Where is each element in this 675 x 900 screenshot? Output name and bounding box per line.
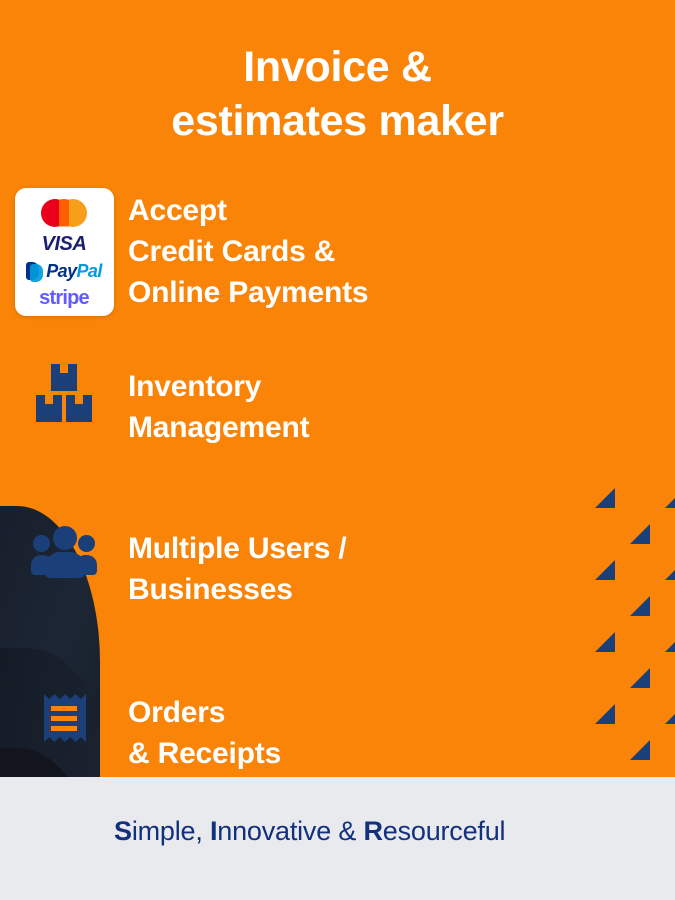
stripe-logo: stripe [39, 288, 89, 308]
feature-users-line-2: Businesses [128, 569, 347, 610]
feature-inventory-line-1: Inventory [128, 366, 309, 407]
page-title: Invoice & estimates maker [0, 40, 675, 148]
visa-logo: VISA [42, 234, 87, 254]
multiple-users-icon [33, 526, 95, 578]
box-top [51, 364, 77, 391]
page-title-line-1: Invoice & [0, 40, 675, 94]
tagline-part-3: esourceful [383, 816, 506, 846]
feature-payments-line-3: Online Payments [128, 272, 368, 313]
user-center-body [45, 552, 85, 578]
paypal-mark-icon [26, 261, 43, 281]
feature-users-text: Multiple Users / Businesses [128, 526, 347, 610]
box-bottom-left [36, 395, 62, 422]
mastercard-logo [41, 199, 87, 227]
user-right-head [78, 535, 95, 552]
box-bottom-right [66, 395, 92, 422]
inventory-boxes-icon [34, 364, 94, 422]
promo-screen: Invoice & estimates maker [0, 0, 675, 900]
inventory-boxes-icon-wrap [0, 364, 128, 422]
feature-orders-text: Orders & Receipts [128, 690, 281, 774]
feature-orders-line-1: Orders [128, 692, 281, 733]
feature-payments-text: Accept Credit Cards & Online Payments [128, 188, 368, 313]
user-left-head [33, 535, 50, 552]
tagline-part-2: nnovative & [217, 816, 363, 846]
feature-item-payments: VISA PayPal stripe Accept Credit Cards &… [0, 188, 675, 326]
payment-logos-card-wrap: VISA PayPal stripe [0, 188, 128, 316]
feature-list: VISA PayPal stripe Accept Credit Cards &… [0, 188, 675, 820]
multiple-users-icon-wrap [0, 526, 128, 578]
feature-payments-line-2: Credit Cards & [128, 231, 368, 272]
tagline-part-1: imple, [132, 816, 210, 846]
feature-users-line-1: Multiple Users / [128, 528, 347, 569]
feature-inventory-line-2: Management [128, 407, 309, 448]
payment-logos-card: VISA PayPal stripe [15, 188, 114, 316]
receipt-icon-wrap [0, 690, 128, 746]
paypal-mark-front [30, 264, 43, 282]
page-title-line-2: estimates maker [0, 94, 675, 148]
tagline-r: R [363, 816, 382, 846]
tagline-s: S [114, 816, 132, 846]
feature-item-users: Multiple Users / Businesses [0, 504, 675, 666]
user-center-head [53, 526, 77, 550]
feature-inventory-text: Inventory Management [128, 364, 309, 448]
paypal-word-pay: Pay [46, 261, 76, 281]
feature-item-inventory: Inventory Management [0, 326, 675, 504]
paypal-wordmark: PayPal [46, 262, 101, 280]
feature-orders-line-2: & Receipts [128, 733, 281, 774]
feature-payments-line-1: Accept [128, 190, 368, 231]
receipt-icon [42, 690, 86, 746]
paypal-logo: PayPal [26, 261, 101, 281]
paypal-word-pal: Pal [77, 261, 102, 281]
tagline: Simple, Innovative & Resourceful [114, 816, 505, 847]
